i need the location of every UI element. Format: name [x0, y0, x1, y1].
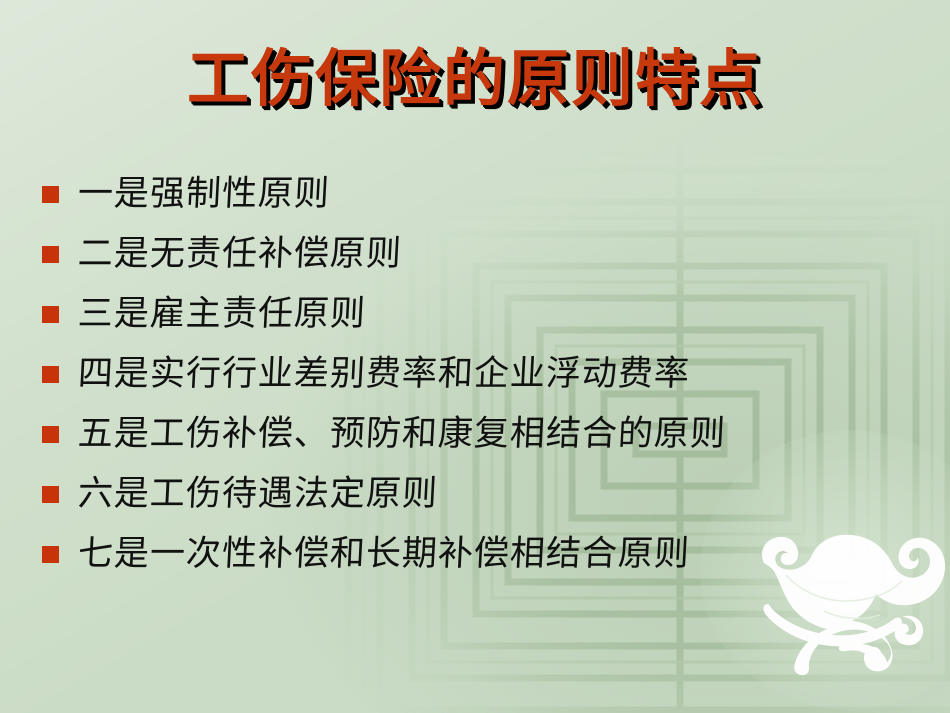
list-item: 一是强制性原则 — [42, 172, 932, 232]
list-item-label: 四是实行行业差别费率和企业浮动费率 — [77, 352, 933, 396]
square-bullet-icon — [42, 246, 59, 263]
list-item-label: 七是一次性补偿和长期补偿相结合原则 — [77, 532, 933, 576]
bullet-list: 一是强制性原则 二是无责任补偿原则 三是雇主责任原则 四是实行行业差别费率和企业… — [42, 172, 932, 592]
list-item: 七是一次性补偿和长期补偿相结合原则 — [42, 532, 932, 592]
list-item-label: 三是雇主责任原则 — [77, 292, 933, 336]
presentation-slide: 工伤保险的原则特点 一是强制性原则 二是无责任补偿原则 三是雇主责任原则 四是实… — [0, 0, 950, 713]
list-item: 四是实行行业差别费率和企业浮动费率 — [42, 352, 932, 412]
list-item: 六是工伤待遇法定原则 — [42, 472, 932, 532]
list-item: 三是雇主责任原则 — [42, 292, 932, 352]
square-bullet-icon — [42, 186, 59, 203]
square-bullet-icon — [42, 366, 59, 383]
page-title: 工伤保险的原则特点 — [0, 46, 950, 111]
square-bullet-icon — [42, 486, 59, 503]
list-item: 二是无责任补偿原则 — [42, 232, 932, 292]
list-item-label: 一是强制性原则 — [77, 172, 933, 216]
list-item-label: 二是无责任补偿原则 — [77, 232, 933, 276]
list-item-label: 五是工伤补偿、预防和康复相结合的原则 — [77, 412, 933, 456]
list-item-label: 六是工伤待遇法定原则 — [77, 472, 933, 516]
list-item: 五是工伤补偿、预防和康复相结合的原则 — [42, 412, 932, 472]
square-bullet-icon — [42, 546, 59, 563]
square-bullet-icon — [42, 426, 59, 443]
square-bullet-icon — [42, 306, 59, 323]
